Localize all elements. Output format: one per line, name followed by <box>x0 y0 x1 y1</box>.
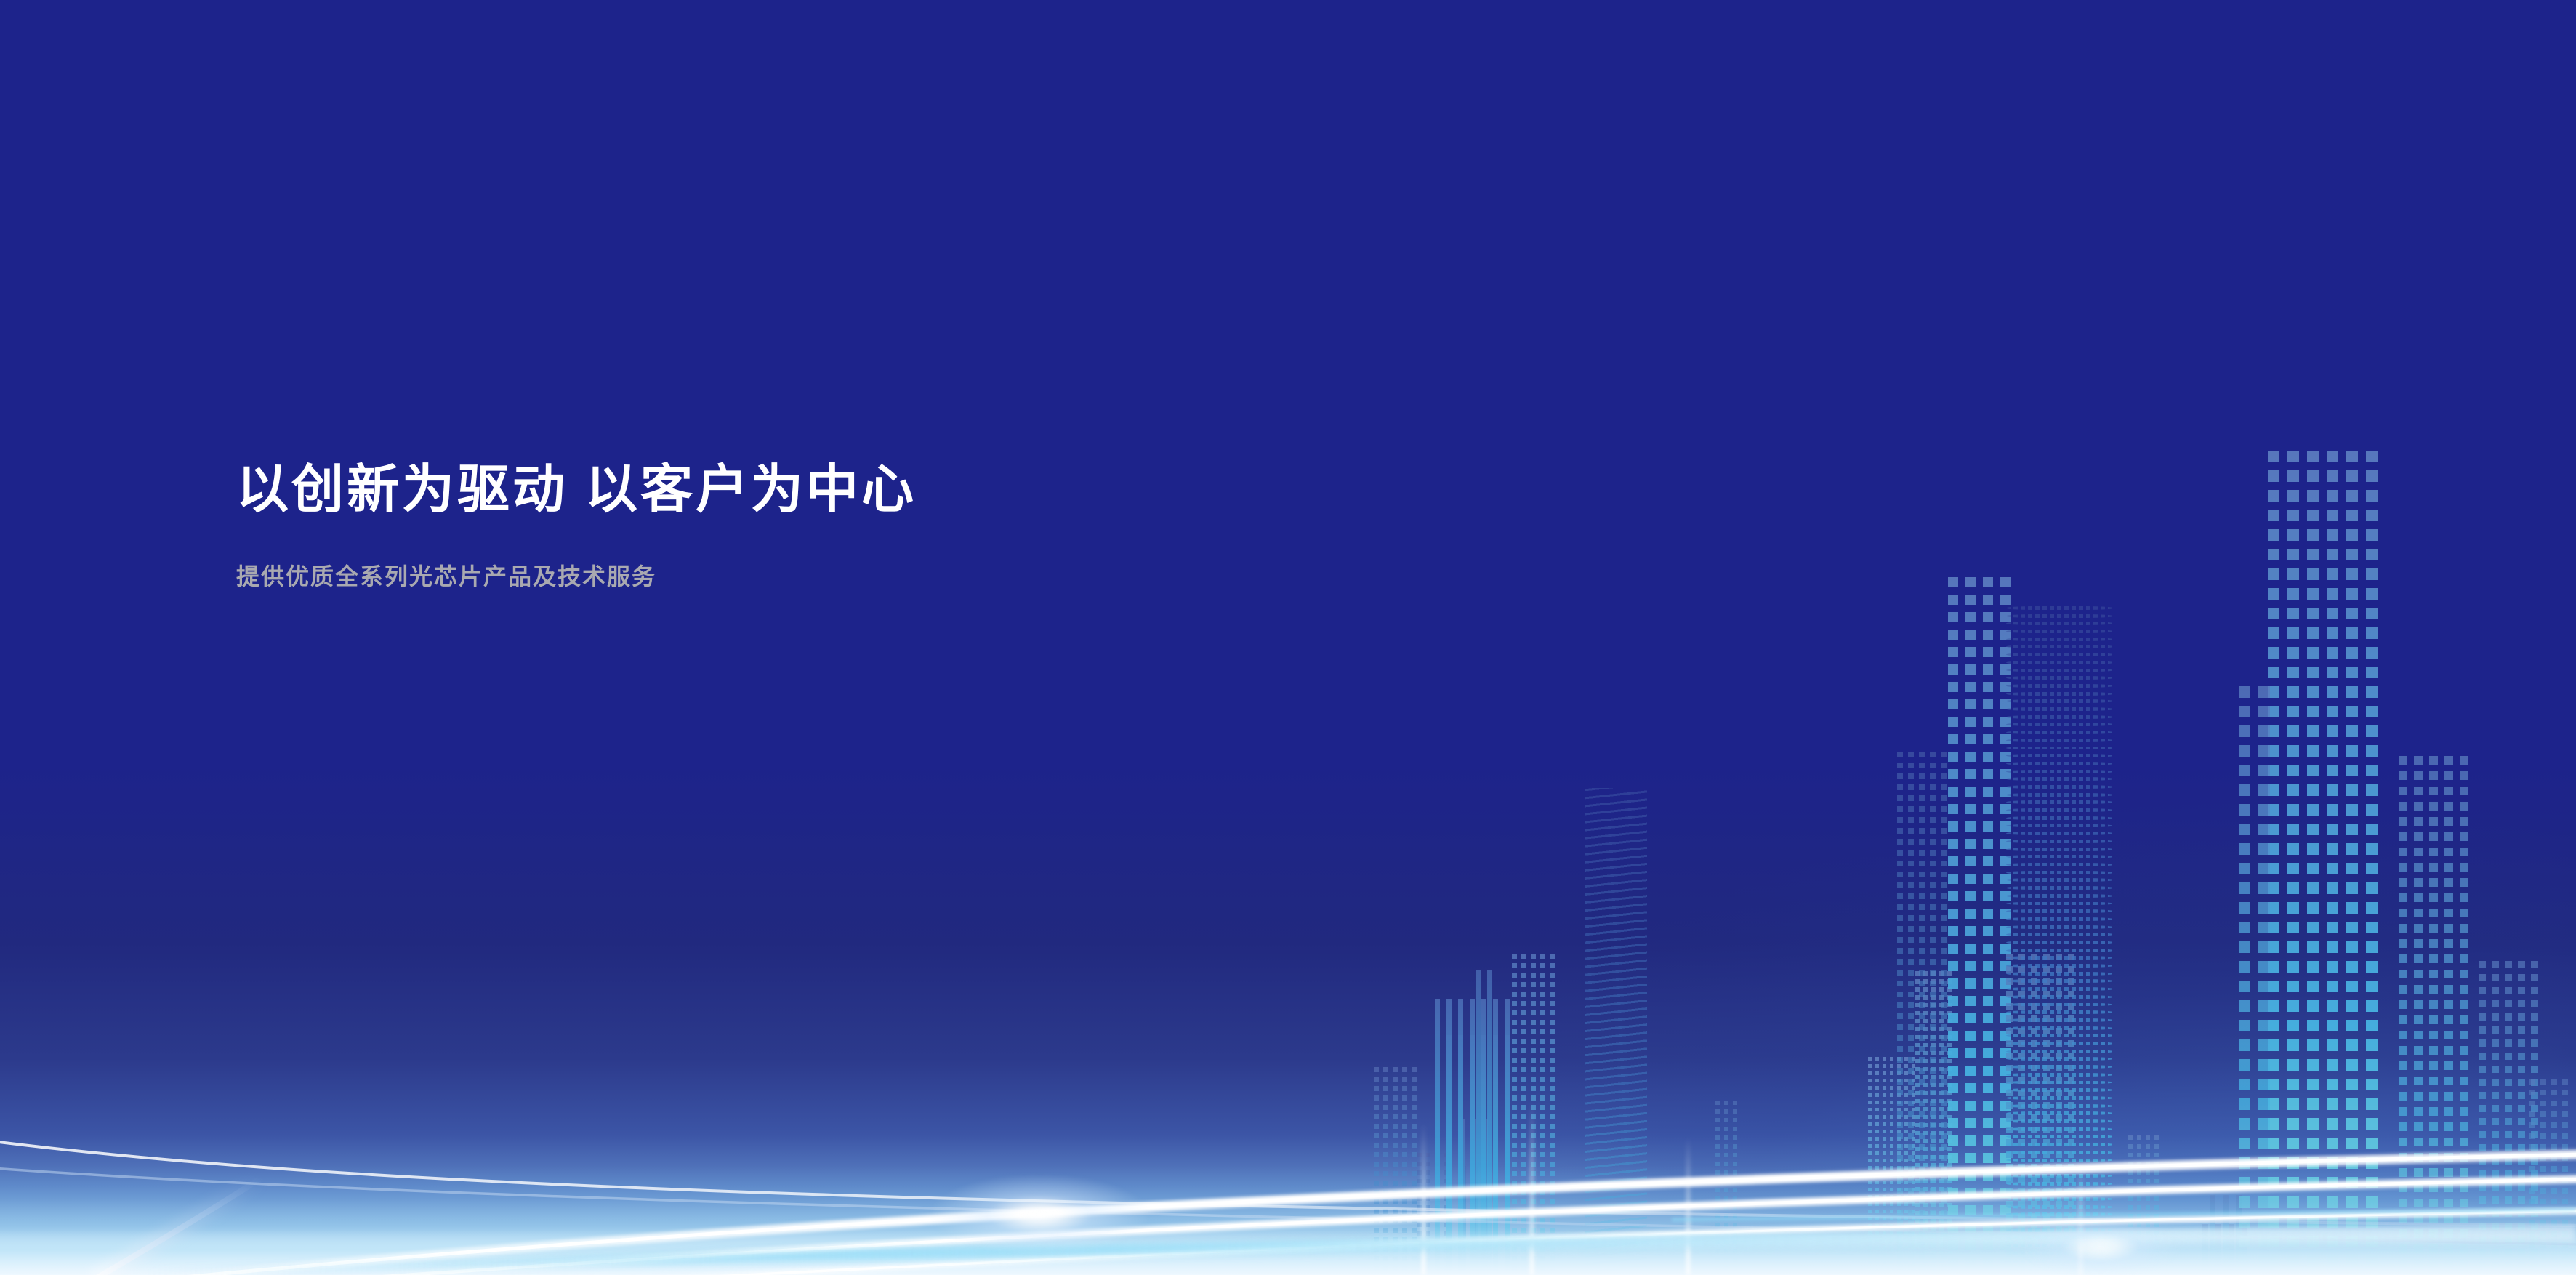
lens-flare-secondary <box>2021 1218 2181 1275</box>
page-title: 以创新为驱动 以客户为中心 <box>236 462 917 519</box>
hero-banner: 以创新为驱动 以客户为中心 提供优质全系列光芯片产品及技术服务 <box>0 0 2576 1275</box>
background-gradient <box>0 0 2576 1275</box>
headline-block: 以创新为驱动 以客户为中心 提供优质全系列光芯片产品及技术服务 <box>236 462 917 592</box>
page-subtitle: 提供优质全系列光芯片产品及技术服务 <box>236 558 917 592</box>
lens-flare <box>930 1175 1148 1255</box>
